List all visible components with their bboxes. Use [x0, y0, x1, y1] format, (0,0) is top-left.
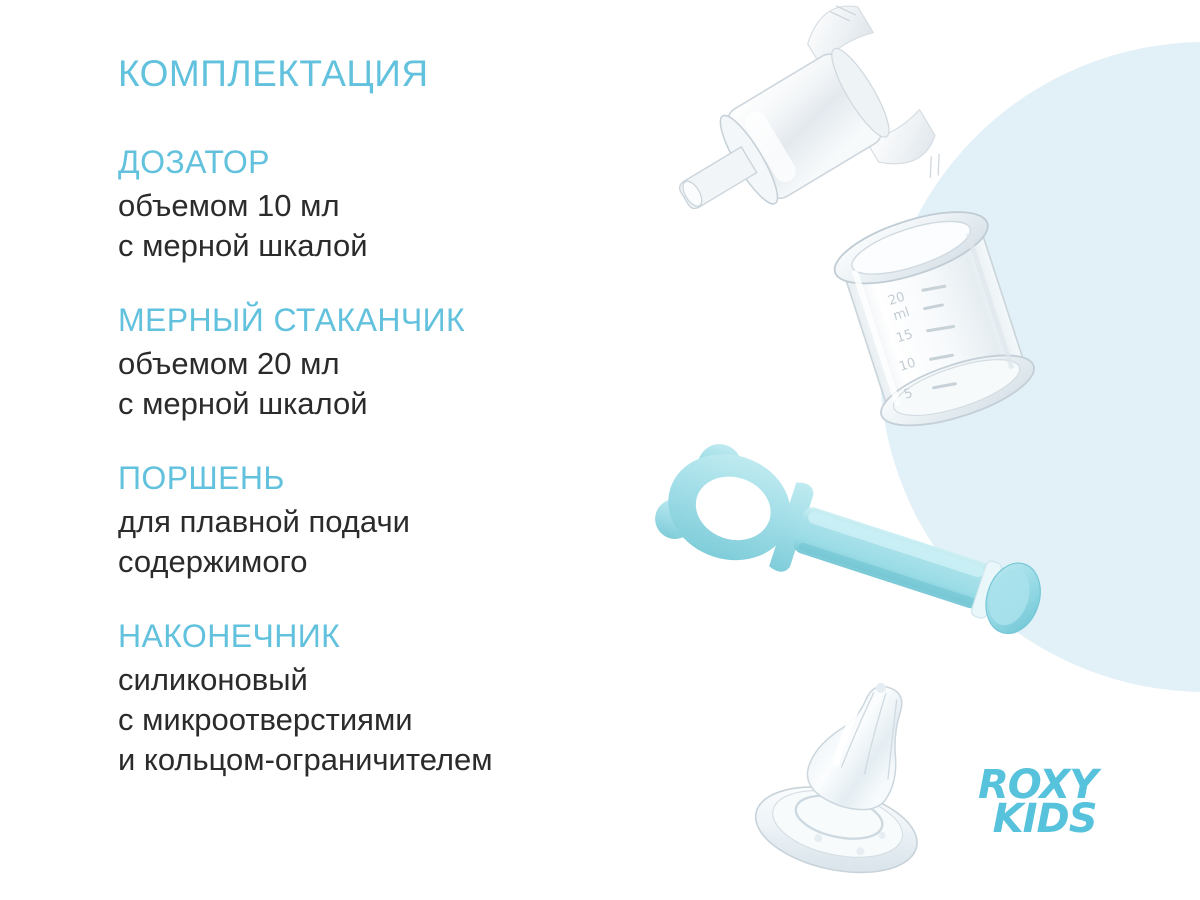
spec-item-plunger: ПОРШЕНЬ для плавной подачи содержимого — [118, 458, 658, 582]
specs-column: КОМПЛЕКТАЦИЯ ДОЗАТОР объемом 10 мл с мер… — [118, 52, 658, 780]
spec-line: и кольцом-ограничителем — [118, 740, 658, 780]
spec-line: с мерной шкалой — [118, 226, 658, 266]
spec-title-dispenser: ДОЗАТОР — [118, 142, 658, 182]
brand-logo: ROXY KIDS — [978, 768, 1097, 837]
spec-title-plunger: ПОРШЕНЬ — [118, 458, 658, 498]
spec-line: с микроотверстиями — [118, 700, 658, 740]
spec-item-measuring-cup: МЕРНЫЙ СТАКАНЧИК объемом 20 мл с мерной … — [118, 300, 658, 424]
spec-lines-plunger: для плавной подачи содержимого — [118, 502, 658, 582]
infographic-canvas: КОМПЛЕКТАЦИЯ ДОЗАТОР объемом 10 мл с мер… — [0, 0, 1200, 900]
spec-line: для плавной подачи — [118, 502, 658, 542]
spec-line: содержимого — [118, 542, 658, 582]
spec-item-tip: НАКОНЕЧНИК силиконовый с микроотверстиям… — [118, 616, 658, 780]
spec-lines-tip: силиконовый с микроотверстиями и кольцом… — [118, 660, 658, 780]
product-image-silicone-tip — [728, 655, 968, 895]
spec-lines-dispenser: объемом 10 мл с мерной шкалой — [118, 186, 658, 266]
spec-title-measuring-cup: МЕРНЫЙ СТАКАНЧИК — [118, 300, 658, 340]
spec-lines-measuring-cup: объемом 20 мл с мерной шкалой — [118, 344, 658, 424]
spec-item-dispenser: ДОЗАТОР объемом 10 мл с мерной шкалой — [118, 142, 658, 266]
logo-text-kids: KIDS — [992, 802, 1097, 836]
product-image-measuring-cup: 20 ml 15 10 5 — [815, 196, 1055, 446]
spec-title-tip: НАКОНЕЧНИК — [118, 616, 658, 656]
spec-line: объемом 20 мл — [118, 344, 658, 384]
spec-line: объемом 10 мл — [118, 186, 658, 226]
spec-line: силиконовый — [118, 660, 658, 700]
page-title: КОМПЛЕКТАЦИЯ — [118, 52, 658, 96]
tip-teat — [802, 674, 913, 816]
spec-line: с мерной шкалой — [118, 384, 658, 424]
